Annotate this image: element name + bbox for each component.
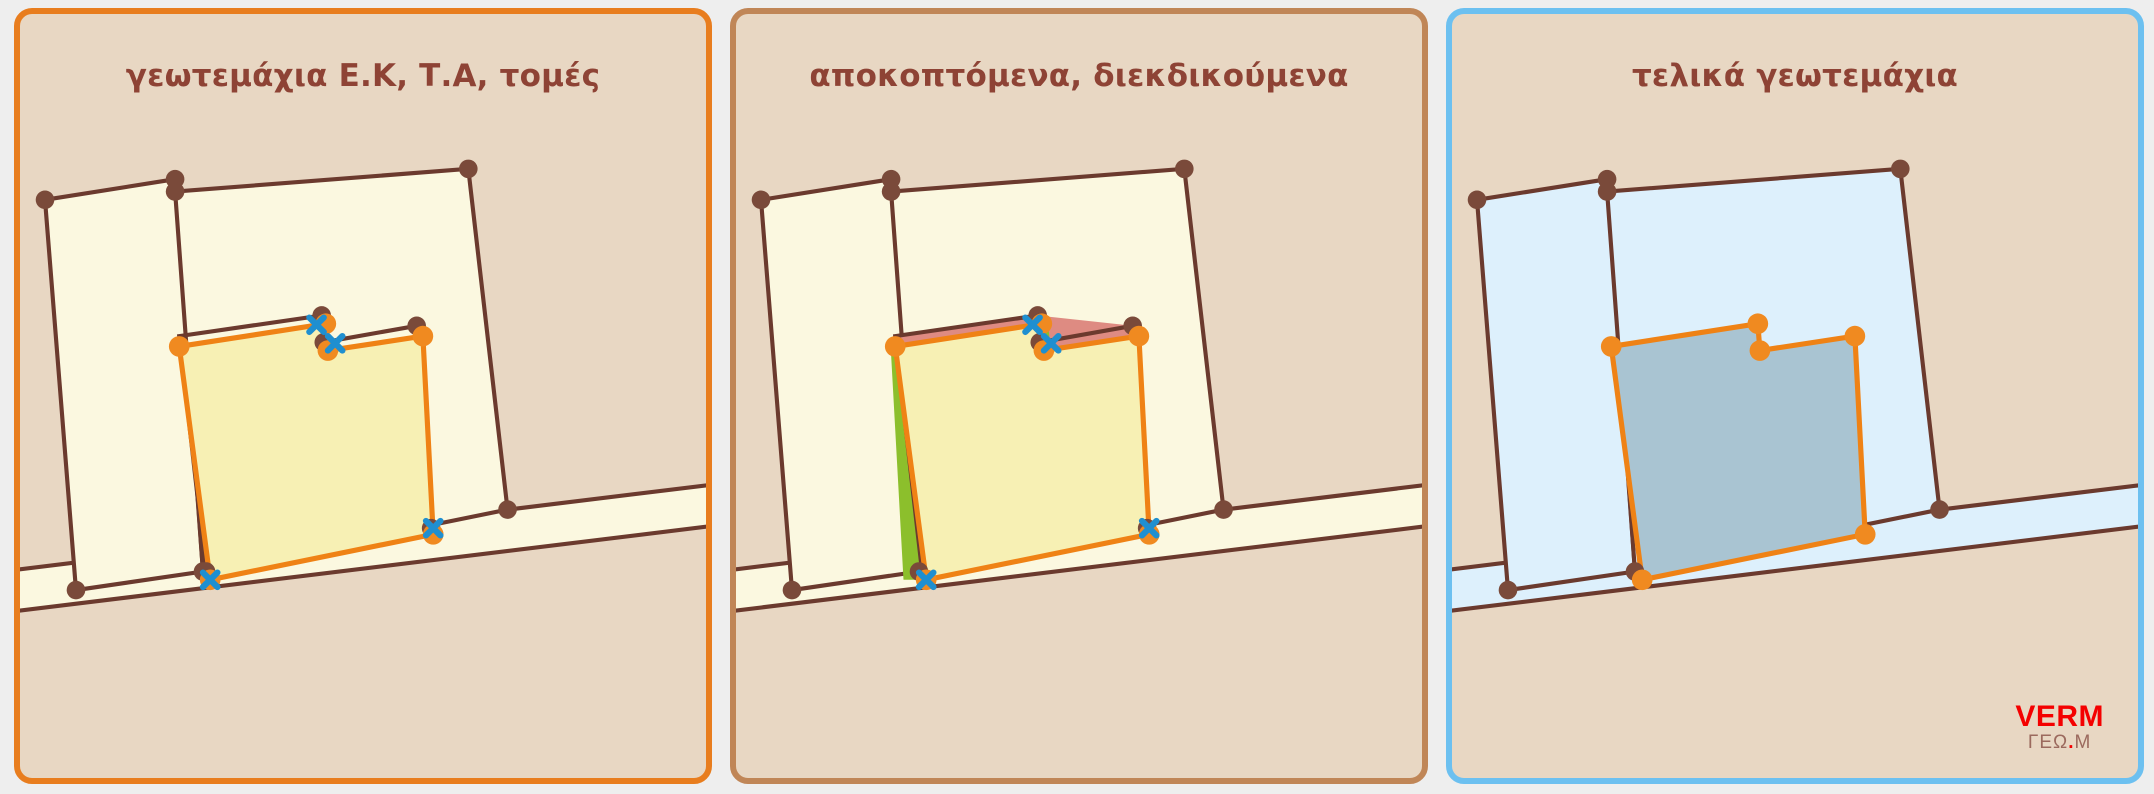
vertex-dot[interactable]: [166, 182, 185, 201]
vertex-dot[interactable]: [783, 581, 802, 600]
panel-cutoff-claimed[interactable]: αποκοπτόμενα, διεκδικούμενα: [730, 8, 1428, 784]
map-drawing-cutoff-claimed: [736, 14, 1422, 778]
panel-parcels-intersections[interactable]: γεωτεμάχια Ε.Κ, Τ.Α, τομές: [14, 8, 712, 784]
logo-sub-text: ΓΕΩ.Μ: [2015, 733, 2104, 752]
logo-sub-left: ΓΕΩ: [2028, 732, 2068, 753]
vertex-dot-orange[interactable]: [885, 336, 906, 357]
vertex-dot[interactable]: [1930, 500, 1949, 519]
vertex-dot-orange[interactable]: [1750, 340, 1771, 361]
vertex-dot[interactable]: [67, 581, 86, 600]
vertex-dot-orange[interactable]: [1129, 326, 1150, 347]
panel-3-canvas: τελικά γεωτεμάχια VERM ΓΕΩ.Μ: [1452, 14, 2138, 778]
logo-sub-right: Μ: [2075, 732, 2092, 753]
logo-main-text: VERM: [2015, 702, 2104, 732]
vertex-dot[interactable]: [752, 191, 771, 210]
vertex-dot-orange[interactable]: [1748, 313, 1769, 334]
parcel-declared-orange[interactable]: [895, 324, 1149, 580]
panel-2-canvas: αποκοπτόμενα, διεκδικούμενα: [736, 14, 1422, 778]
parcel-declared-orange[interactable]: [179, 324, 433, 580]
vertex-dot[interactable]: [1598, 182, 1617, 201]
vertex-dot[interactable]: [1214, 500, 1233, 519]
vertex-dot-orange[interactable]: [1855, 524, 1876, 545]
vertex-dot[interactable]: [1891, 160, 1910, 179]
vertex-dot[interactable]: [1468, 191, 1487, 210]
map-drawing-parcels: [20, 14, 706, 778]
vertex-dot[interactable]: [1499, 581, 1518, 600]
figure-root: γεωτεμάχια Ε.Κ, Τ.Α, τομές: [0, 0, 2154, 794]
parcel-final-declared[interactable]: [1611, 324, 1865, 580]
vertex-dot[interactable]: [1175, 160, 1194, 179]
vertex-dot-orange[interactable]: [1632, 569, 1653, 590]
vertex-dot-orange[interactable]: [1601, 336, 1622, 357]
vertex-dot[interactable]: [498, 500, 517, 519]
vertex-dot-orange[interactable]: [169, 336, 190, 357]
vertex-dot-orange[interactable]: [1845, 326, 1866, 347]
vertex-dot[interactable]: [459, 160, 478, 179]
verm-logo: VERM ΓΕΩ.Μ: [2015, 702, 2104, 752]
panel-1-canvas: γεωτεμάχια Ε.Κ, Τ.Α, τομές: [20, 14, 706, 778]
panel-final-parcels[interactable]: τελικά γεωτεμάχια VERM ΓΕΩ.Μ: [1446, 8, 2144, 784]
map-drawing-final-parcels: [1452, 14, 2138, 778]
vertex-dot-orange[interactable]: [413, 326, 434, 347]
vertex-dot[interactable]: [882, 182, 901, 201]
vertex-dot[interactable]: [36, 191, 55, 210]
